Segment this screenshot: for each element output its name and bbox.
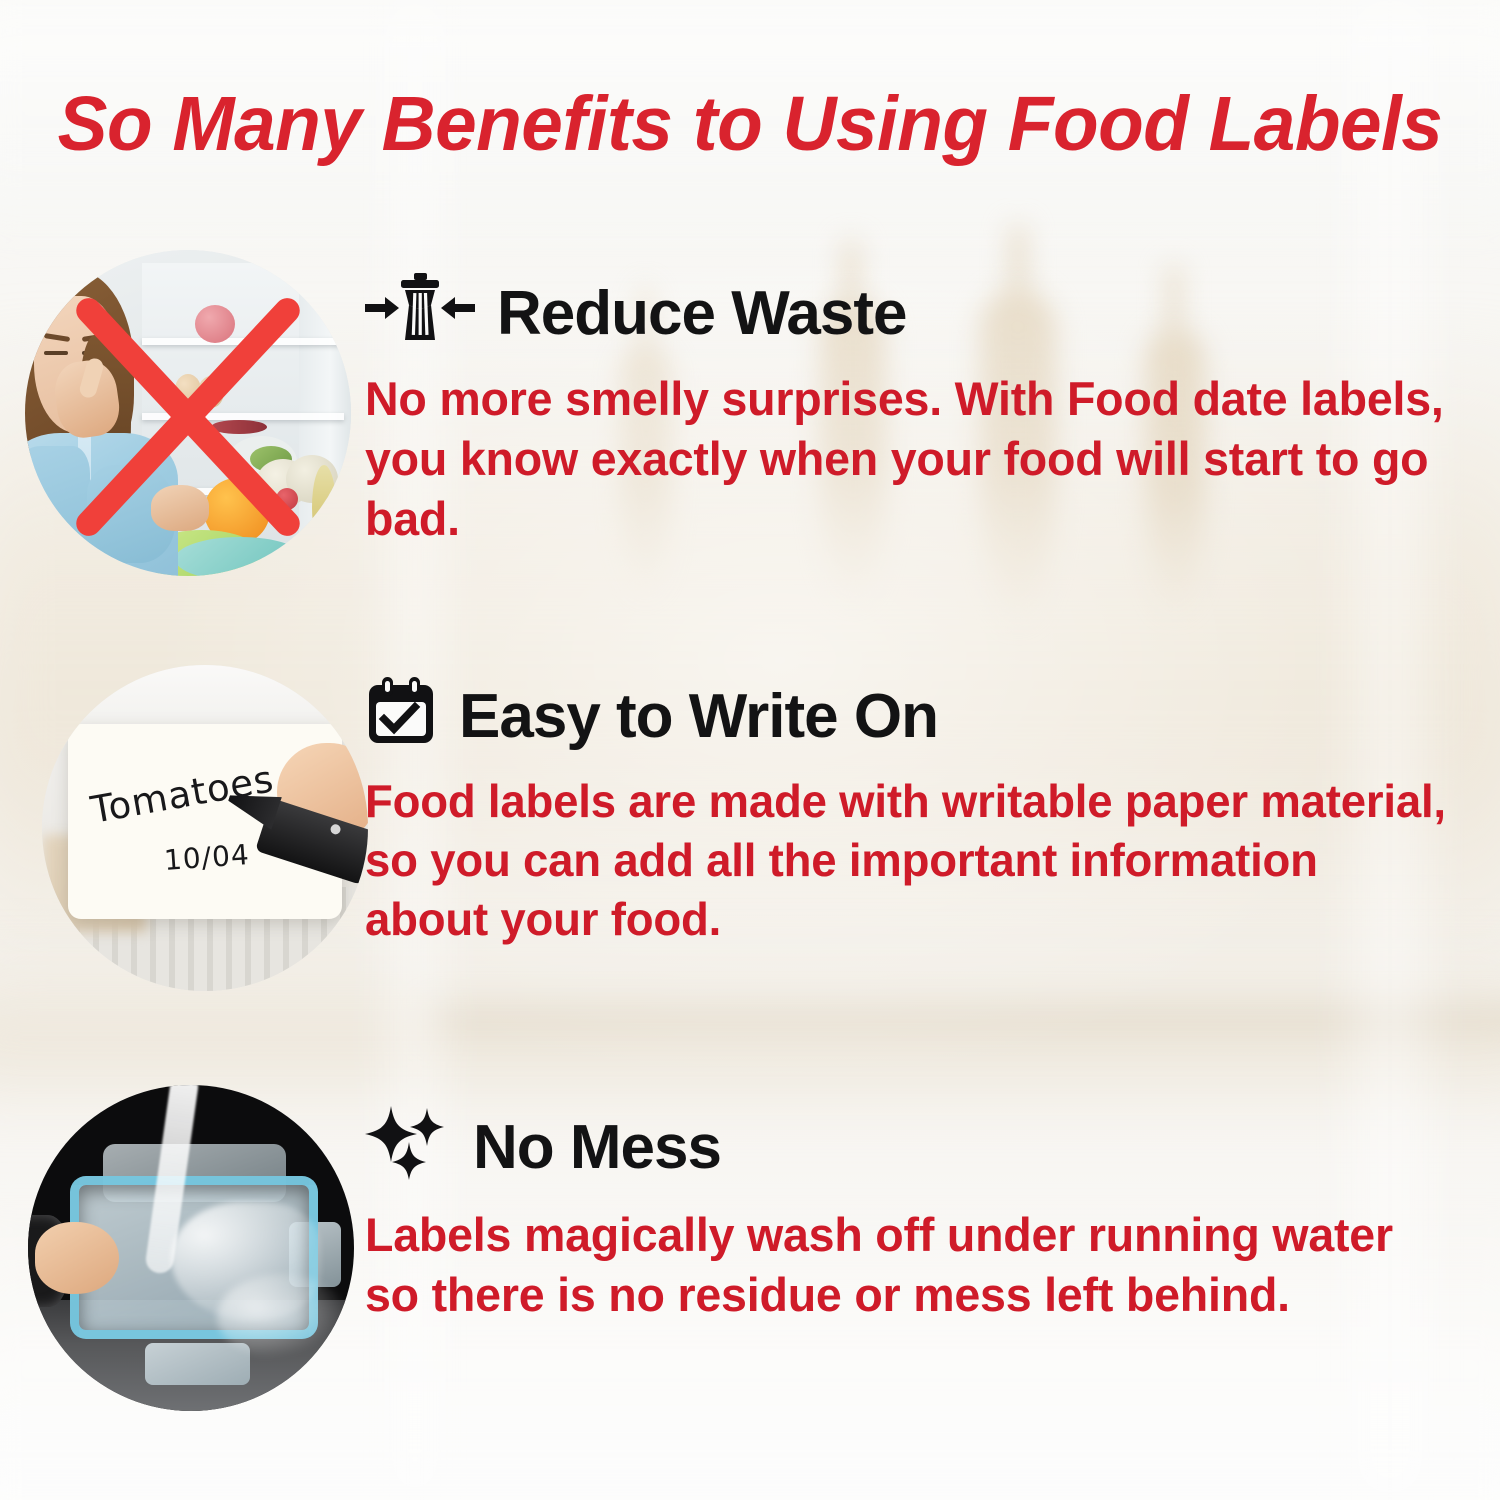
benefit-body-text: Food labels are made with writable paper… <box>365 772 1449 949</box>
calendar-check-icon <box>365 675 437 758</box>
label-handwriting-date: 10/04 <box>163 838 251 877</box>
benefit-heading-row: No Mess <box>365 1104 1460 1191</box>
benefit-heading-text: No Mess <box>473 1117 721 1179</box>
benefit-heading-text: Reduce Waste <box>497 283 907 345</box>
benefit-heading-text: Easy to Write On <box>459 686 938 748</box>
sparkles-icon <box>365 1104 451 1191</box>
benefit-body-text: Labels magically wash off under running … <box>365 1205 1449 1325</box>
benefit-heading-row: Easy to Write On <box>365 675 1460 758</box>
benefit-heading-row: Reduce Waste <box>365 272 1460 355</box>
benefit-body-text: No more smelly surprises. With Food date… <box>365 369 1449 549</box>
page-title: So Many Benefits to Using Food Labels <box>23 80 1478 169</box>
trash-reduce-icon <box>365 272 475 355</box>
photo-handwritten-food-label: Tomatoes 10/04 <box>42 665 368 991</box>
woman-pinching-nose <box>25 250 175 576</box>
photo-woman-smelling-spoiled-food <box>25 250 351 576</box>
photo-container-washed-under-water <box>28 1085 354 1411</box>
